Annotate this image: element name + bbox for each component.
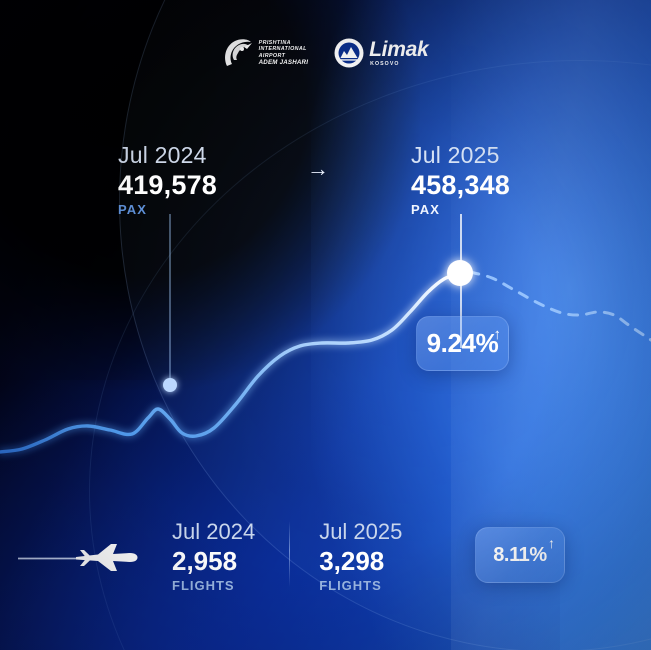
- pax-prev-value: 419,578: [118, 169, 217, 202]
- flights-curr-unit: FLIGHTS: [319, 578, 402, 595]
- pax-change-badge: 9.24% ↑: [416, 316, 509, 371]
- airplane-icon: [18, 536, 140, 576]
- pax-stat-previous: Jul 2024 419,578 PAX: [118, 142, 217, 219]
- flights-curr-period: Jul 2025: [319, 519, 402, 545]
- flights-prev-unit: FLIGHTS: [172, 578, 255, 595]
- plane-graphic: [18, 536, 140, 576]
- pax-trend-arrow-icon: →: [307, 158, 329, 180]
- flights-stat-previous: Jul 2024 2,958 FLIGHTS: [172, 519, 255, 595]
- flights-prev-period: Jul 2024: [172, 519, 255, 545]
- flights-divider: [289, 521, 290, 587]
- flights-curr-value: 3,298: [319, 545, 402, 578]
- flights-change-badge: 8.11% ↑: [475, 527, 565, 583]
- pax-curr-value: 458,348: [411, 169, 510, 202]
- jul-2024-point-marker: [163, 378, 177, 392]
- trend-line-actual: [0, 273, 460, 452]
- flights-prev-value: 2,958: [172, 545, 255, 578]
- pax-curr-period: Jul 2025: [411, 142, 510, 169]
- flights-comparison-row: Jul 2024 2,958 FLIGHTS Jul 2025 3,298 FL…: [172, 519, 402, 595]
- jul-2025-point-marker: [447, 260, 473, 286]
- flights-stat-current: Jul 2025 3,298 FLIGHTS: [319, 519, 402, 595]
- flights-change-value: 8.11%: [493, 544, 547, 567]
- pax-change-value: 9.24%: [427, 328, 499, 359]
- infographic-canvas: PRISHTINA INTERNATIONAL AIRPORT ADEM JAS…: [0, 0, 651, 650]
- flights-change-up-arrow-icon: ↑: [548, 536, 555, 550]
- pax-stat-current: Jul 2025 458,348 PAX: [411, 142, 510, 219]
- pax-prev-period: Jul 2024: [118, 142, 217, 169]
- pax-change-up-arrow-icon: ↑: [494, 327, 502, 342]
- pax-prev-unit: PAX: [118, 202, 217, 219]
- pax-curr-unit: PAX: [411, 202, 510, 219]
